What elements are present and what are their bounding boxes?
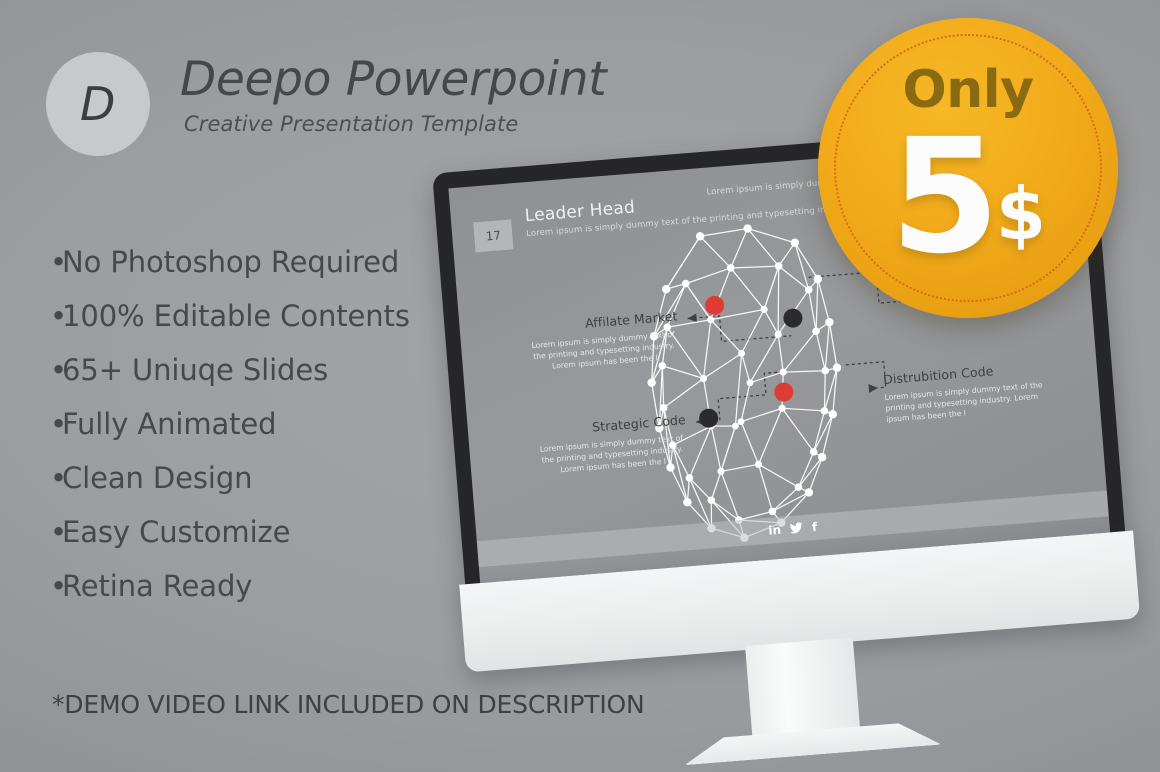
bullet-icon: • [50, 356, 62, 385]
feature-label: 65+ Uniuqe Slides [62, 353, 328, 387]
price-badge: Only 5$ [818, 18, 1118, 318]
feature-list: •No Photoshop Required •100% Editable Co… [50, 248, 470, 626]
demo-video-note: *DEMO VIDEO LINK INCLUDED ON DESCRIPTION [52, 690, 645, 719]
feature-label: No Photoshop Required [62, 245, 399, 279]
bullet-icon: • [50, 572, 62, 601]
brand-logo-letter: D [80, 81, 116, 127]
list-item: •65+ Uniuqe Slides [50, 356, 470, 385]
feature-label: Clean Design [62, 461, 252, 495]
bullet-icon: • [50, 248, 62, 277]
bullet-icon: • [50, 302, 62, 331]
feature-label: Easy Customize [62, 515, 290, 549]
badge-amount: 5 [890, 105, 994, 289]
list-item: •Clean Design [50, 464, 470, 493]
page-title: Deepo Powerpoint [180, 56, 740, 104]
feature-label: 100% Editable Contents [62, 299, 410, 333]
bullet-icon: • [50, 464, 62, 493]
badge-currency: $ [996, 172, 1046, 256]
bullet-icon: • [50, 410, 62, 439]
page-subtitle: Creative Presentation Template [184, 112, 740, 136]
list-item: •100% Editable Contents [50, 302, 470, 331]
badge-price: 5$ [818, 118, 1118, 276]
facebook-icon[interactable]: f [811, 521, 817, 533]
linkedin-icon[interactable]: in [768, 524, 782, 537]
list-item: •Easy Customize [50, 518, 470, 547]
feature-label: Retina Ready [62, 569, 252, 603]
feature-label: Fully Animated [62, 407, 277, 441]
monitor-stand-neck [745, 637, 860, 741]
poster-canvas: D Deepo Powerpoint Creative Presentation… [0, 0, 1160, 772]
list-item: •No Photoshop Required [50, 248, 470, 277]
title-block: Deepo Powerpoint Creative Presentation T… [180, 56, 740, 136]
twitter-icon[interactable] [790, 522, 804, 536]
list-item: •Retina Ready [50, 572, 470, 601]
bullet-icon: • [50, 518, 62, 547]
list-item: •Fully Animated [50, 410, 470, 439]
brand-logo-circle: D [46, 52, 150, 156]
